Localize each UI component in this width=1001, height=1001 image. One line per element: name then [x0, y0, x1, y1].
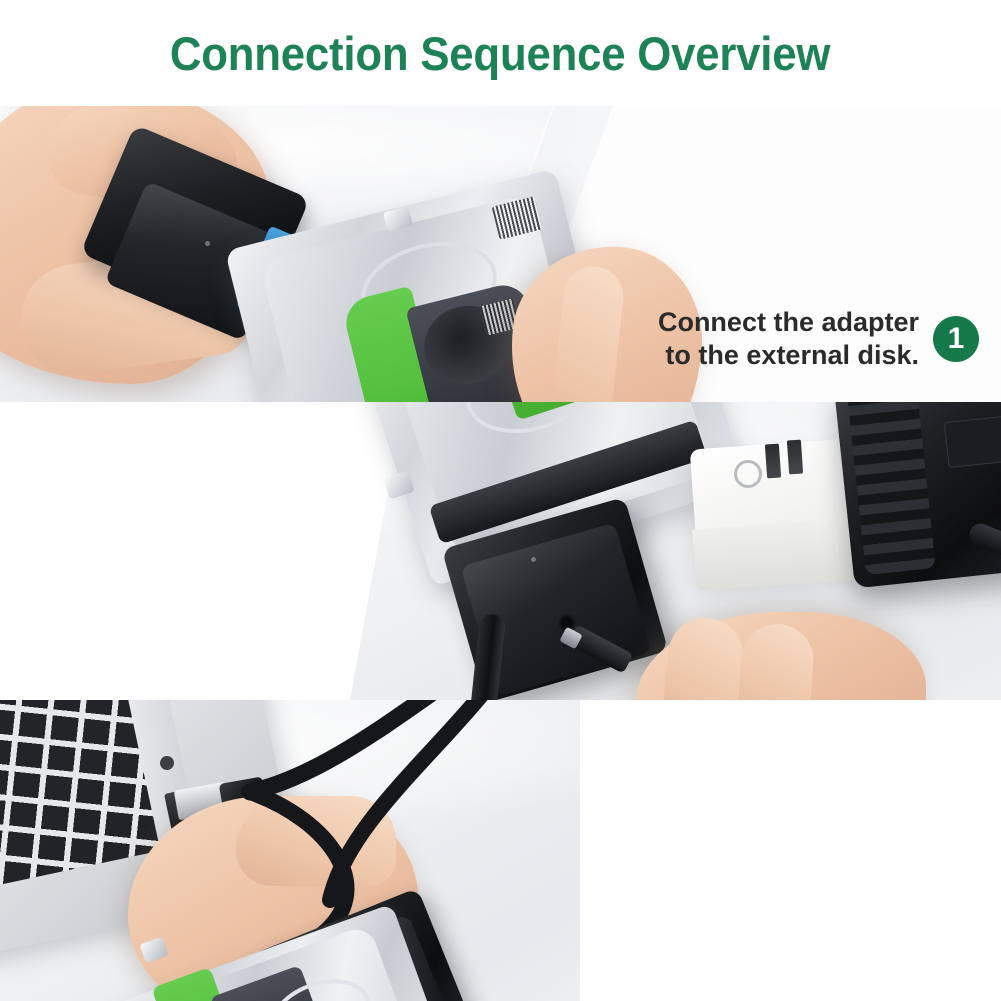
step-1-caption-text: Connect the adapter to the external disk…: [658, 306, 919, 372]
adapter-led-dot: [205, 241, 210, 246]
page-title: Connection Sequence Overview: [170, 26, 830, 81]
step-1-badge: 1: [933, 316, 979, 362]
step-1-panel: Connect the adapter to the external disk…: [0, 106, 1001, 402]
step-2-panel: 2 Connect to the power supply. Note: DC …: [0, 402, 1001, 700]
adapter-led-dot-2: [531, 557, 536, 562]
usb-port-2: [787, 440, 803, 475]
step-1-caption: Connect the adapter to the external disk…: [658, 306, 979, 372]
power-brick-label: [944, 414, 1001, 468]
page-title-bar: Connection Sequence Overview: [0, 0, 1001, 106]
step-2-photo: [336, 402, 1001, 700]
step-3-panel: Plug in the USB porton PC/laptop. 3: [0, 700, 1001, 1001]
usb-port-1: [765, 444, 781, 479]
infographic-page: Connection Sequence Overview: [0, 0, 1001, 1001]
step-3-photo: [0, 700, 640, 1001]
